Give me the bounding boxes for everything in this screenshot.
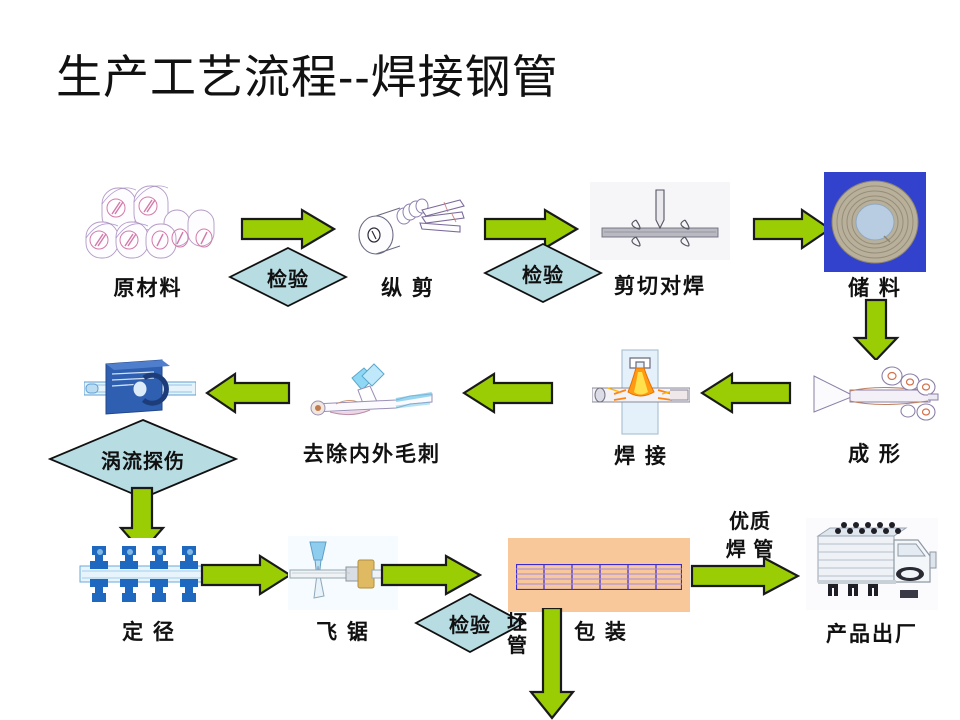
- arrow-down-tube-blank-return: [528, 608, 576, 720]
- page-title: 生产工艺流程--焊接钢管: [56, 48, 559, 106]
- sizing-image: [78, 538, 220, 610]
- decision-inspect-2[interactable]: 检验: [483, 242, 603, 304]
- deburring-image: [300, 360, 440, 432]
- decision-inspect-3-label: 检验: [449, 609, 491, 638]
- shipping-label: 产品出厂: [804, 618, 940, 648]
- flying-saw-label: 飞 锯: [288, 616, 398, 646]
- raw-material-image: [72, 176, 224, 268]
- arrow-left-forming-to-welding: [700, 372, 792, 414]
- shear-butt-weld-label: 剪切对焊: [590, 270, 730, 300]
- eddy-current-device-image: [84, 356, 196, 420]
- deburring-label: 去除内外毛刺: [292, 438, 452, 468]
- tube-blank-label: 坯管: [506, 612, 528, 658]
- welding-label: 焊 接: [588, 440, 694, 470]
- decision-inspect-1-label: 检验: [267, 263, 309, 292]
- sizing-label: 定 径: [78, 616, 220, 646]
- arrow-down-storage-to-forming: [852, 298, 900, 362]
- slitting-image: [348, 190, 468, 262]
- slide-canvas: 生产工艺流程--焊接钢管: [0, 0, 960, 720]
- forming-label: 成 形: [808, 438, 942, 468]
- slitting-label: 纵 剪: [348, 272, 468, 302]
- arrow-right-raw-to-slitting: [240, 208, 336, 250]
- shear-butt-weld-image: [590, 182, 730, 260]
- decision-eddy-current-label: 涡流探伤: [101, 445, 185, 474]
- quality-pipe-line-1: 优质: [700, 508, 800, 536]
- shipping-image: [806, 518, 938, 610]
- decision-inspect-1[interactable]: 检验: [228, 246, 348, 308]
- arrow-right-sizing-to-saw: [200, 554, 292, 596]
- arrow-right-packaging-to-shipping: [690, 556, 800, 596]
- arrow-left-welding-to-deburring: [462, 372, 554, 414]
- arrow-right-saw-to-packaging: [380, 554, 482, 596]
- arrow-left-deburring-to-eddy: [205, 372, 291, 414]
- forming-image: [810, 360, 940, 426]
- packaging-pipes-graphic: [516, 564, 682, 590]
- welding-image: [592, 348, 690, 436]
- raw-material-label: 原材料: [72, 272, 224, 302]
- storage-image: [824, 172, 926, 272]
- arrow-right-shear-to-storage: [752, 208, 832, 250]
- decision-inspect-2-label: 检验: [522, 259, 564, 288]
